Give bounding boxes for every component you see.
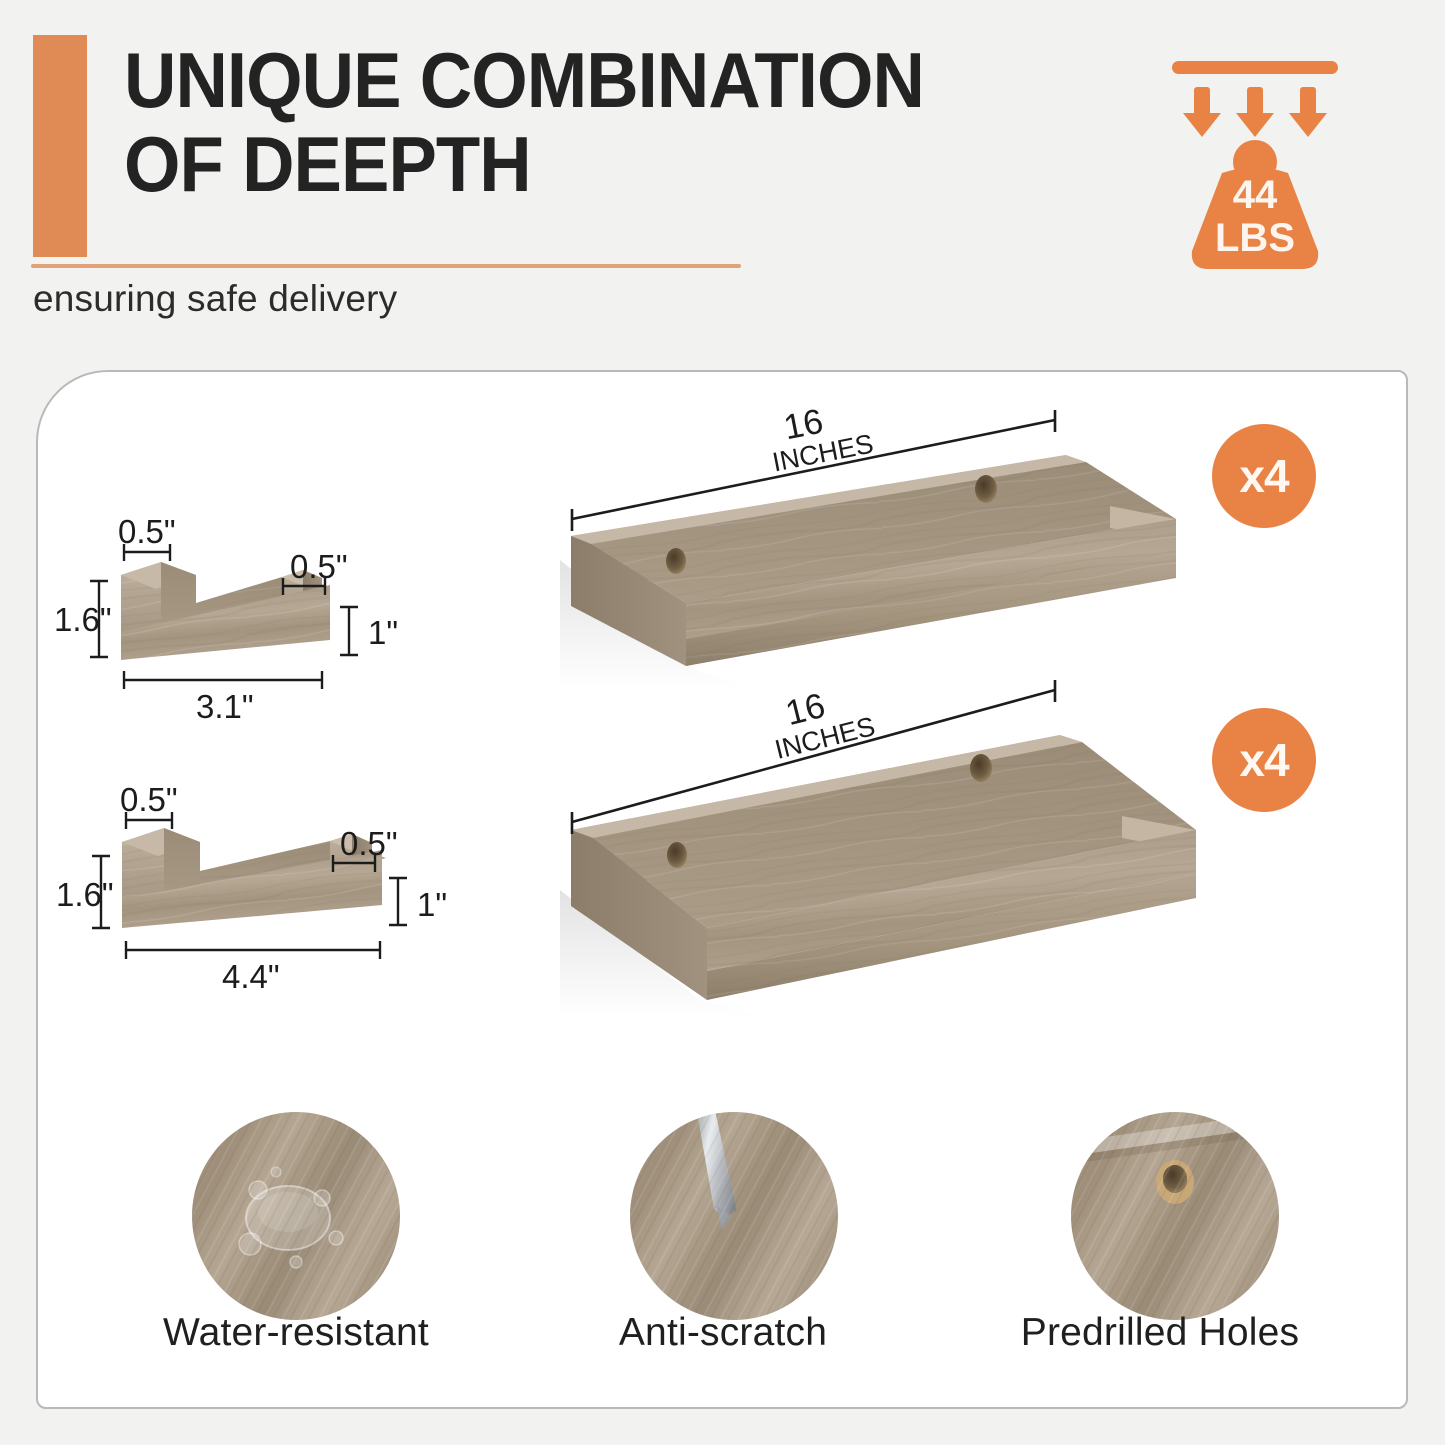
feature-icon-anti-scratch bbox=[630, 1112, 838, 1320]
cs1-right-thickness: 0.5" bbox=[290, 548, 348, 586]
cs2-left-thickness: 0.5" bbox=[120, 781, 178, 819]
feature-label-predrilled-holes: Predrilled Holes bbox=[950, 1311, 1370, 1355]
page-title: UNIQUE COMBINATION OF DEEPTH bbox=[124, 38, 1017, 206]
quantity-badge-shelf-2: x4 bbox=[1212, 708, 1316, 812]
load-bar-icon bbox=[1172, 61, 1338, 74]
page-subtitle: ensuring safe delivery bbox=[33, 278, 397, 320]
cs1-lip-height: 1" bbox=[368, 614, 398, 652]
cs1-height: 1.6" bbox=[54, 601, 112, 639]
accent-bar bbox=[33, 35, 87, 257]
down-arrows-icon bbox=[1183, 87, 1327, 137]
cs1-depth: 3.1" bbox=[196, 688, 254, 726]
feature-label-anti-scratch: Anti-scratch bbox=[513, 1311, 933, 1355]
drill-hole-icon bbox=[1071, 1112, 1279, 1320]
cs2-height: 1.6" bbox=[56, 876, 114, 914]
feature-icon-predrilled-holes bbox=[1071, 1112, 1279, 1320]
weight-capacity-badge: 44 LBS bbox=[1160, 55, 1350, 280]
feature-label-water-resistant: Water-resistant bbox=[86, 1311, 506, 1355]
title-line-1: UNIQUE COMBINATION bbox=[124, 38, 1017, 122]
infographic-page: UNIQUE COMBINATION OF DEEPTH ensuring sa… bbox=[0, 0, 1445, 1445]
cs2-right-thickness: 0.5" bbox=[340, 825, 398, 863]
cs2-lip-height: 1" bbox=[417, 886, 447, 924]
title-line-2: OF DEEPTH bbox=[124, 122, 1017, 206]
weight-icon: 44 LBS bbox=[1160, 55, 1350, 280]
cs2-depth: 4.4" bbox=[222, 958, 280, 996]
header-divider bbox=[31, 264, 741, 268]
quantity-badge-shelf-1: x4 bbox=[1212, 424, 1316, 528]
cs1-left-thickness: 0.5" bbox=[118, 513, 176, 551]
water-droplets-icon bbox=[192, 1112, 400, 1320]
feature-icon-water-resistant bbox=[192, 1112, 400, 1320]
screwdriver-icon bbox=[630, 1112, 838, 1320]
weight-value: 44 bbox=[1233, 173, 1278, 217]
weight-unit: LBS bbox=[1215, 216, 1295, 260]
